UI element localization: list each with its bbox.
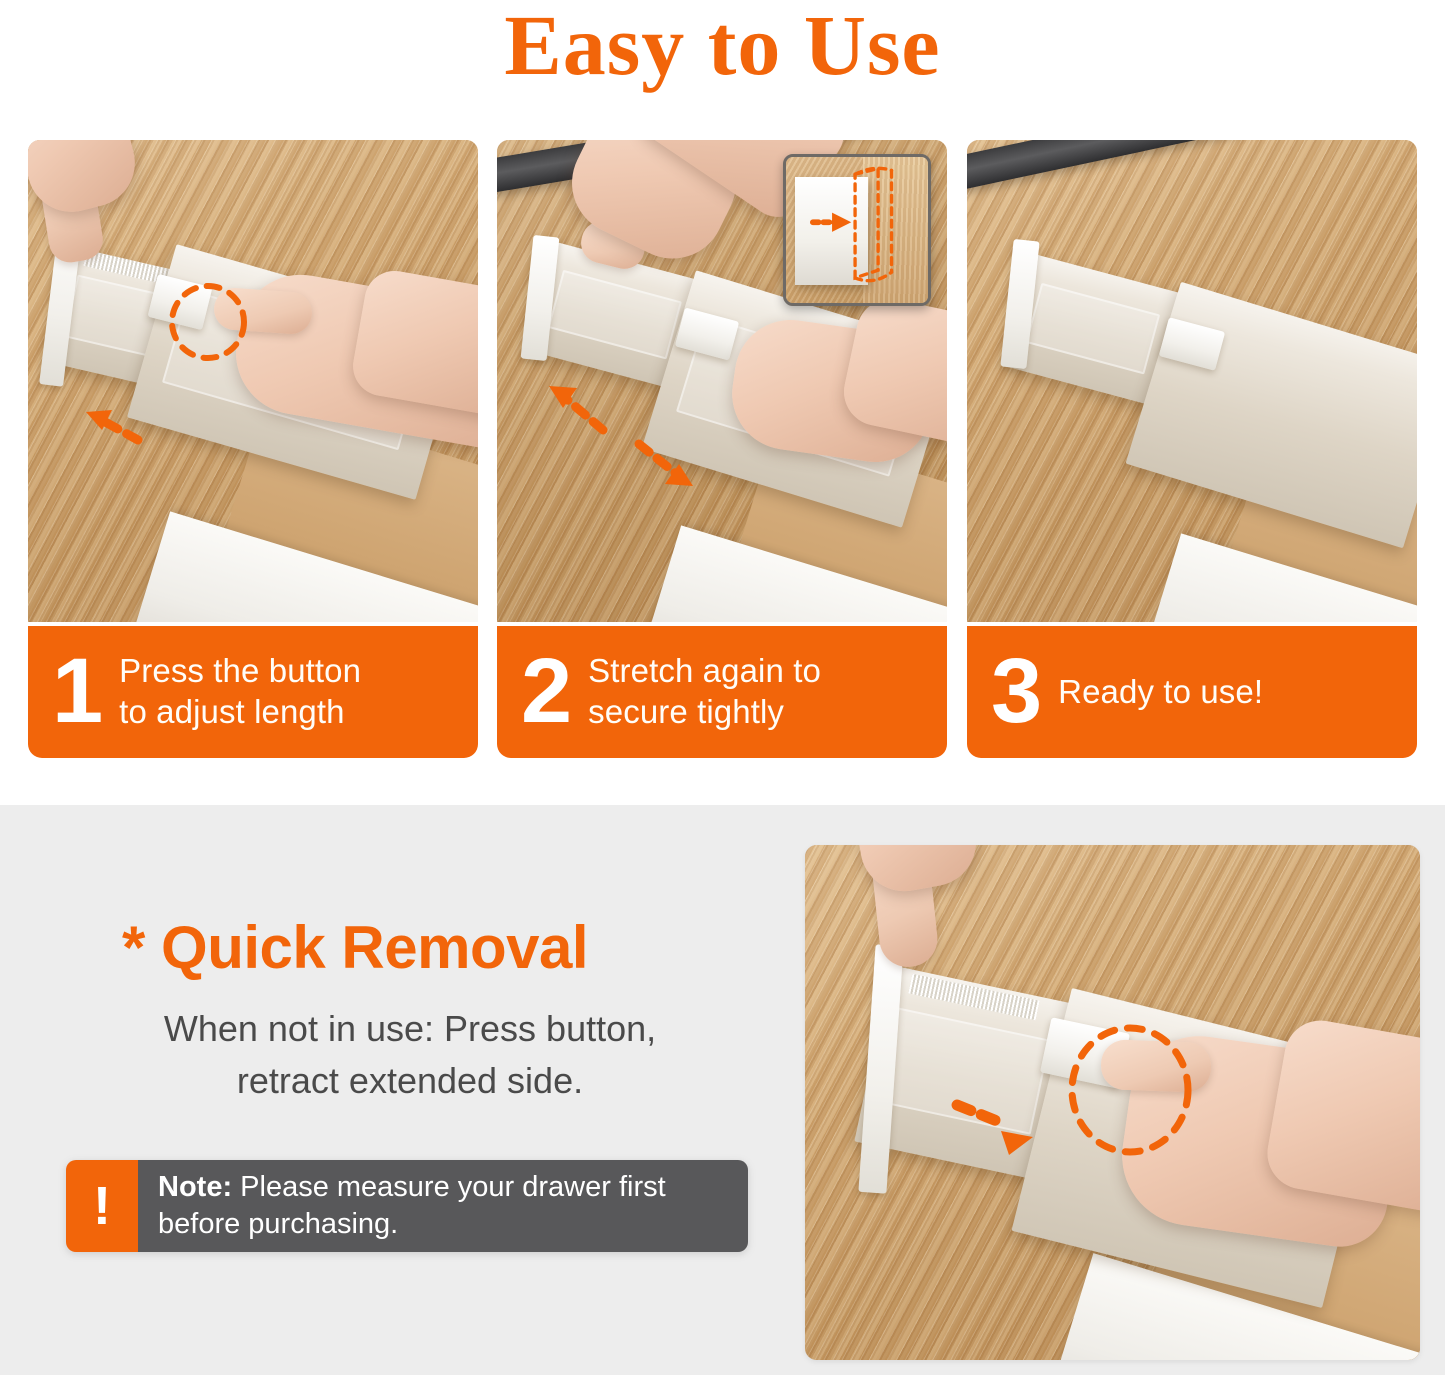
step-2-caption: 2 Stretch again to secure tightly: [497, 626, 947, 758]
step-1-photo: [28, 140, 478, 622]
step-2-number: 2: [521, 652, 570, 731]
divider-face-inset: [548, 269, 682, 359]
step-3-text: Ready to use!: [1058, 672, 1263, 713]
step-card-2: 2 Stretch again to secure tightly: [497, 140, 947, 758]
quick-removal-body: When not in use: Press button, retract e…: [110, 1003, 710, 1107]
note-banner: ! Note: Please measure your drawer first…: [66, 1160, 748, 1252]
step-2-inset-closeup: [783, 154, 931, 306]
step-3-photo: [967, 140, 1417, 622]
step-2-text-line2: secure tightly: [588, 693, 784, 730]
step-2-photo: [497, 140, 947, 622]
quick-removal-heading: * Quick Removal: [122, 913, 588, 982]
step-1-caption: 1 Press the button to adjust length: [28, 626, 478, 758]
divider-face-inset: [1025, 282, 1160, 374]
steps-row: 1 Press the button to adjust length: [0, 140, 1445, 765]
product-infographic: Easy to Use: [0, 0, 1445, 1375]
inset-drawer-wall: [863, 157, 928, 303]
inset-divider-panel: [795, 177, 869, 285]
right-index-finger: [213, 287, 314, 336]
note-text: Note: Please measure your drawer first b…: [138, 1160, 748, 1252]
note-label: Note:: [158, 1171, 232, 1203]
page-title: Easy to Use: [0, 0, 1445, 95]
quick-removal-body-line2: retract extended side.: [110, 1055, 710, 1107]
right-index-finger: [1100, 1039, 1212, 1093]
step-3-number: 3: [991, 652, 1040, 731]
step-2-text-line1: Stretch again to: [588, 652, 821, 689]
exclamation-icon: !: [66, 1160, 138, 1252]
step-3-text-line1: Ready to use!: [1058, 673, 1263, 710]
step-1-number: 1: [52, 652, 101, 731]
quick-removal-photo: [805, 845, 1420, 1360]
step-3-caption: 3 Ready to use!: [967, 626, 1417, 758]
quick-removal-body-line1: When not in use: Press button,: [164, 1008, 656, 1049]
step-1-text-line1: Press the button: [119, 652, 361, 689]
divider-face-inset: [878, 1007, 1051, 1134]
step-card-3: 3 Ready to use!: [967, 140, 1417, 758]
note-message: Please measure your drawer first before …: [158, 1171, 666, 1240]
step-1-text-line2: to adjust length: [119, 693, 344, 730]
step-2-text: Stretch again to secure tightly: [588, 651, 821, 733]
step-1-text: Press the button to adjust length: [119, 651, 361, 733]
step-card-1: 1 Press the button to adjust length: [28, 140, 478, 758]
